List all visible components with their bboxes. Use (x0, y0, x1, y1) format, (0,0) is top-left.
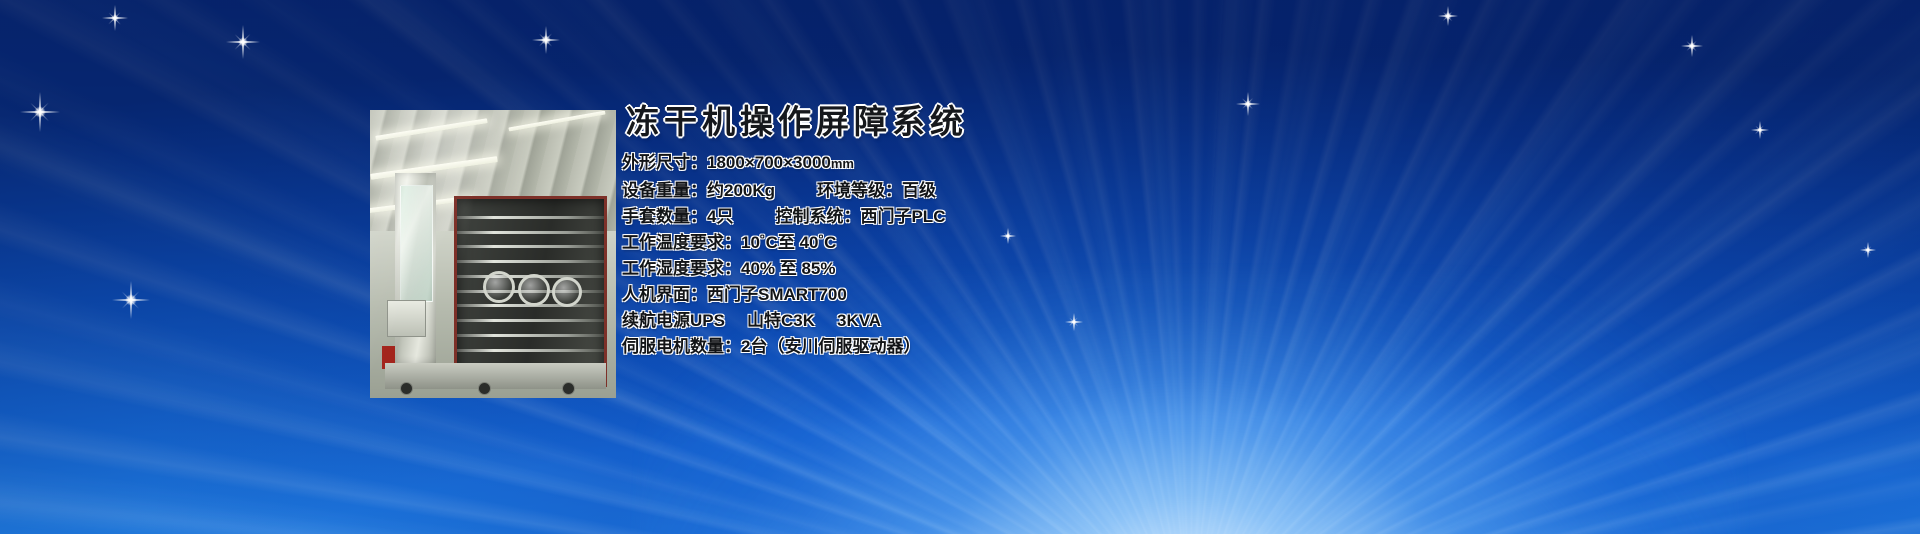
spec-line-working-humidity: 工作湿度要求：40% 至 85% (622, 260, 1262, 277)
spec-value-2: 百级 (902, 181, 936, 200)
spec-line-weight-and-class: 设备重量：约200Kg环境等级：百级 (622, 182, 1262, 199)
spec-label-2: 控制系统： (775, 207, 860, 226)
spec-value: 4只 (707, 207, 733, 226)
product-photo (370, 110, 616, 398)
spec-line-working-temperature: 工作温度要求：10˚C至 40˚C (622, 234, 1262, 251)
spec-label: 伺服电机数量： (622, 337, 741, 356)
spec-label: 续航电源UPS (622, 311, 725, 330)
spec-label: 工作湿度要求： (622, 259, 741, 278)
spec-value: 西门子SMART700 (707, 285, 847, 304)
product-banner: 冻干机操作屏障系统 外形尺寸：1800×700×3000mm 设备重量：约200… (0, 0, 1920, 534)
spec-value-2: 西门子PLC (860, 207, 945, 226)
spec-value: 山特C3K (747, 311, 815, 330)
spec-value: 2台（安川伺服驱动器） (741, 337, 920, 356)
spec-line-gloves-and-control: 手套数量：4只控制系统：西门子PLC (622, 208, 1262, 225)
spec-value: 10˚C至 40˚C (741, 233, 836, 252)
spec-label: 手套数量： (622, 207, 707, 226)
spec-label: 外形尺寸： (622, 153, 707, 172)
spec-label: 人机界面： (622, 285, 707, 304)
spec-label-2: 环境等级： (817, 181, 902, 200)
spec-line-servo-motors: 伺服电机数量：2台（安川伺服驱动器） (622, 338, 1262, 355)
spec-label: 设备重量： (622, 181, 707, 200)
spec-line-hmi: 人机界面：西门子SMART700 (622, 286, 1262, 303)
spec-value: 1800×700×3000 (707, 153, 831, 172)
photo-sheen (370, 110, 616, 398)
spec-unit: mm (831, 156, 854, 171)
spec-line-ups: 续航电源UPS山特C3K3KVA (622, 312, 1262, 329)
spec-value: 约200Kg (707, 181, 775, 200)
page-title: 冻干机操作屏障系统 (626, 104, 1262, 140)
spec-text-block: 冻干机操作屏障系统 外形尺寸：1800×700×3000mm 设备重量：约200… (622, 104, 1262, 364)
spec-line-dimensions: 外形尺寸：1800×700×3000mm (622, 154, 1262, 171)
spec-label: 工作温度要求： (622, 233, 741, 252)
spec-value-2: 3KVA (837, 311, 881, 330)
spec-value: 40% 至 85% (741, 259, 836, 278)
